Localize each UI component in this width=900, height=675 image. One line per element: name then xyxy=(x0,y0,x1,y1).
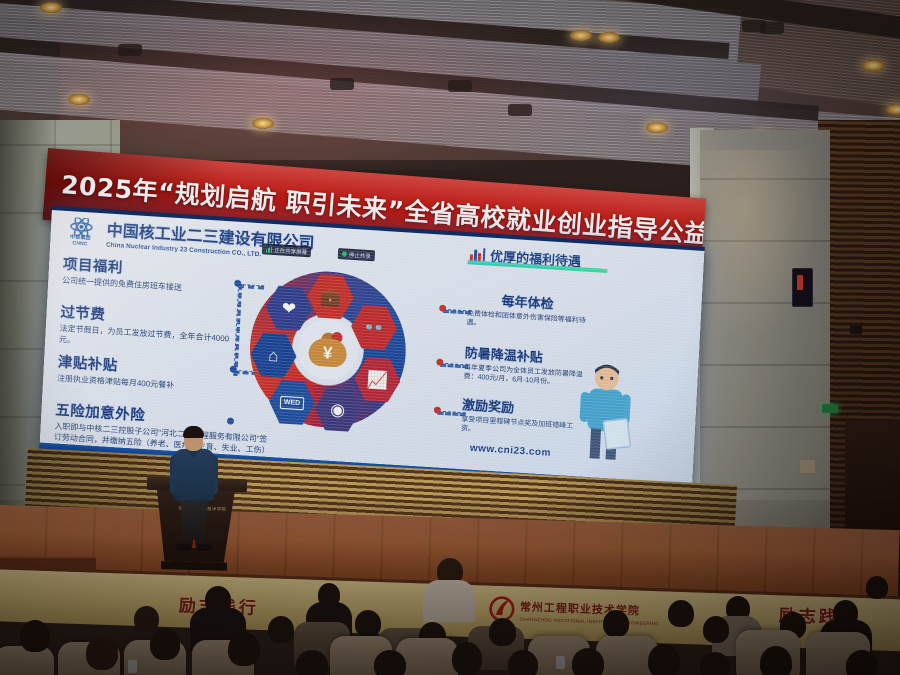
glasses-icon: 👓 xyxy=(363,318,385,336)
audience-head xyxy=(86,636,118,670)
cnnc-logo-text: 中核集团 CNNC xyxy=(60,235,101,249)
ceiling-downlight xyxy=(862,60,884,71)
auditorium-scene: 2025年“规划启航 职引未来”全省高校就业创业指导公益巡讲 中核集团 CNNC xyxy=(0,0,900,675)
wall-switch-plate xyxy=(800,460,815,473)
wall-right-spotlight xyxy=(700,150,820,340)
audience-head xyxy=(846,650,878,675)
bar-chart-icon xyxy=(470,247,486,261)
audience-head xyxy=(228,632,260,666)
calendar-icon: WED xyxy=(280,395,304,409)
audience-head xyxy=(703,616,729,643)
ceiling-fixture xyxy=(330,78,354,90)
money-bag-body: ¥ xyxy=(308,337,347,367)
benefit-block-heat-subsidy: 防暑降温补贴 每年夏季公司为全体员工发放防暑降温费：400元/月，6月-10月份… xyxy=(463,342,585,389)
slide-website-url: www.cni23.com xyxy=(470,443,552,459)
audience-head xyxy=(572,648,604,675)
audience-head xyxy=(452,642,482,675)
stop-share-chip[interactable]: 停止共享 xyxy=(338,248,376,261)
benefits-wheel-graphic: 💼 👓 📈 ◉ WED ⌂ ❤ xyxy=(246,267,410,433)
audience-head xyxy=(760,646,792,675)
audience-head xyxy=(134,606,159,632)
ceiling-fixture xyxy=(118,44,142,56)
connector-right-3 xyxy=(438,411,466,417)
audience-head xyxy=(355,610,381,637)
audience-area xyxy=(0,500,900,675)
audience-head xyxy=(296,650,328,675)
benefit-block-checkup: 每年体检 免费体检和团体意外伤害保险等福利待遇。 xyxy=(466,288,588,335)
mascot-illustration xyxy=(574,361,637,461)
currency-symbol: ¥ xyxy=(323,344,333,362)
audience-head xyxy=(20,620,50,652)
ceiling-fixture xyxy=(448,80,472,92)
cnnc-logo-icon: 中核集团 CNNC xyxy=(60,217,102,251)
growth-chart-icon: 📈 xyxy=(366,371,388,389)
audience-body xyxy=(423,580,475,622)
audience-phone-screen xyxy=(128,660,137,673)
audience-head xyxy=(150,628,180,660)
audience-head xyxy=(489,618,516,646)
cnnc-label-en: CNNC xyxy=(72,240,88,247)
benefit-block-allowance: 津贴补贴 注册执业资格津贴每月400元餐补 xyxy=(57,351,228,395)
stop-share-label: 停止共享 xyxy=(349,250,371,259)
ceiling-downlight xyxy=(40,2,62,13)
ceiling-downlight xyxy=(68,94,90,105)
audience-phone-screen xyxy=(556,656,565,669)
connector-right-2 xyxy=(440,363,468,369)
coins-clock-icon: ◉ xyxy=(330,400,346,418)
security-camera-icon xyxy=(850,325,862,334)
audience-head xyxy=(508,650,538,675)
audience-head xyxy=(700,652,730,675)
signal-bars-icon xyxy=(266,246,272,252)
benefit-block-project: 项目福利 公司统一提供的免费住房班车接送 xyxy=(62,253,233,297)
ceiling-downlight xyxy=(598,32,620,43)
audience-head xyxy=(268,616,294,643)
ceiling-downlight xyxy=(646,122,668,133)
led-screen: 中核集团 CNNC 中国核工业二三建设有限公司 China Nuclear In… xyxy=(39,206,705,495)
audience-head xyxy=(603,610,629,637)
medical-kit-icon: 💼 xyxy=(320,288,342,306)
caring-hands-icon: ❤ xyxy=(281,299,296,317)
connector-left-2 xyxy=(233,284,242,376)
audience-head xyxy=(648,644,680,675)
audience-head xyxy=(866,576,888,599)
speaker-hair xyxy=(183,426,204,438)
connector-right-1 xyxy=(443,309,471,315)
benefit-block-incentive: 激励奖励 享受项目里程碑节点奖及加班错峰工资。 xyxy=(461,394,583,441)
ceiling-downlight xyxy=(252,118,274,129)
exit-sign-icon xyxy=(822,404,838,413)
share-indicator-icon xyxy=(342,251,347,256)
share-status-label: 正在共享屏幕 xyxy=(274,246,307,256)
audience-head xyxy=(374,650,406,675)
presentation-slide: 中核集团 CNNC 中国核工业二三建设有限公司 China Nuclear In… xyxy=(40,210,705,484)
ceiling-fixture xyxy=(760,22,784,34)
ceiling-fixture xyxy=(508,104,532,116)
house-icon: ⌂ xyxy=(268,346,279,364)
ceiling-downlight xyxy=(570,30,592,41)
benefit-block-holiday: 过节费 法定节假日，为员工发放过节费，全年合计4000元。 xyxy=(59,301,231,356)
audience-head xyxy=(668,600,694,627)
fire-extinguisher-cabinet xyxy=(792,268,813,307)
money-bag-icon: ¥ xyxy=(308,331,348,367)
